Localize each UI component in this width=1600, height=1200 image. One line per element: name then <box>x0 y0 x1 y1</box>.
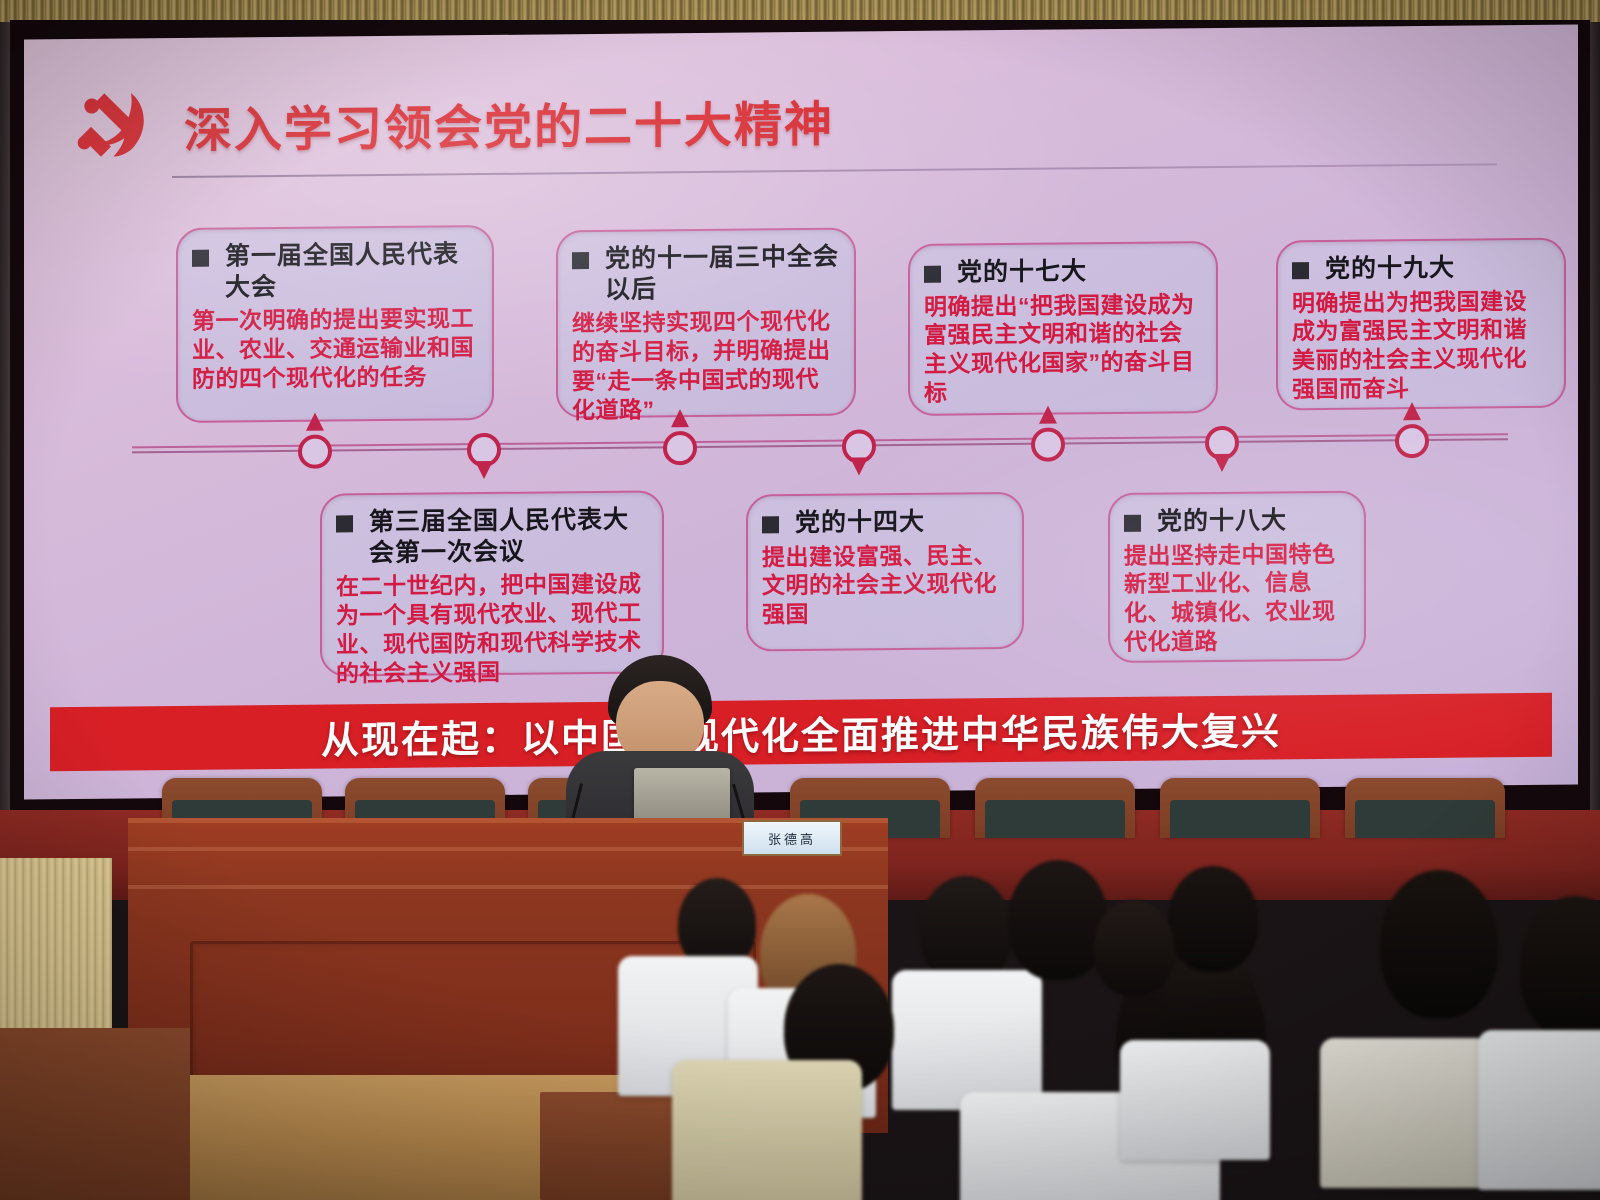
projected-slide: 深入学习领会党的二十大精神 第一届全国人民代表大会 第一次明确的提出要实现工业、… <box>24 25 1578 800</box>
audience-seat <box>672 1060 862 1200</box>
audience-head <box>920 876 1012 984</box>
audience-seat <box>1320 1038 1490 1188</box>
timeline-pointer-down-icon <box>475 461 493 479</box>
card-title: 第一届全国人民代表大会 <box>225 239 478 302</box>
chair <box>1345 778 1505 838</box>
slide-footer-banner: 从现在起：以中国式现代化全面推进中华民族伟大复兴 <box>50 693 1552 771</box>
card-title: 党的十一届三中全会以后 <box>605 242 840 305</box>
slide-header: 深入学习领会党的二十大精神 <box>74 80 834 167</box>
card-title: 党的十九大 <box>1325 253 1455 285</box>
audience-group <box>560 860 1600 1200</box>
name-plate-text: 张德高 <box>768 829 816 848</box>
title-divider <box>172 163 1497 178</box>
card-body: 明确提出“把我国建设成为富强民主文明和谐的社会主义现代化国家”的奋斗目标 <box>924 290 1202 409</box>
square-bullet-icon <box>1124 515 1141 532</box>
card-title: 党的十八大 <box>1157 505 1287 537</box>
card-body: 继续坚持实现四个现代化的奋斗目标，并明确提出要“走一条中国式的现代化道路” <box>572 307 840 425</box>
timeline-card: 第一届全国人民代表大会 第一次明确的提出要实现工业、农业、交通运输业和国防的四个… <box>176 225 494 423</box>
foreground-desk <box>0 1028 190 1200</box>
presenter-laptop <box>634 768 730 824</box>
card-body: 提出坚持走中国特色新型工业化、信息化、城镇化、农业现代化道路 <box>1124 539 1350 657</box>
timeline-pointer-down-icon <box>850 457 868 475</box>
hammer-and-sickle-icon <box>74 86 158 167</box>
timeline-card: 党的十八大 提出坚持走中国特色新型工业化、信息化、城镇化、农业现代化道路 <box>1108 491 1366 663</box>
square-bullet-icon <box>192 250 209 267</box>
timeline-card: 第三届全国人民代表大会第一次会议 在二十世纪内，把中国建设成为一个具有现代农业、… <box>320 490 664 676</box>
page-title: 深入学习领会党的二十大精神 <box>184 85 834 161</box>
audience-head <box>1520 896 1600 1038</box>
timeline-card: 党的十四大 提出建设富强、民主、文明的社会主义现代化强国 <box>746 492 1024 652</box>
ceiling-slat-wall <box>0 0 1600 22</box>
timeline-node <box>298 435 332 469</box>
card-title: 第三届全国人民代表大会第一次会议 <box>369 504 648 568</box>
audience-head <box>1168 866 1258 972</box>
timeline-pointer-up-icon <box>1403 402 1421 420</box>
card-body: 明确提出为把我国建设成为富强民主文明和谐美丽的社会主义现代化强国而奋斗 <box>1292 286 1550 404</box>
timeline-node <box>1395 424 1429 458</box>
audience-seat <box>1478 1030 1600 1190</box>
card-title: 党的十四大 <box>795 507 925 539</box>
timeline-card: 党的十七大 明确提出“把我国建设成为富强民主文明和谐的社会主义现代化国家”的奋斗… <box>908 241 1218 416</box>
square-bullet-icon <box>1292 262 1309 279</box>
timeline-pointer-up-icon <box>671 409 689 427</box>
square-bullet-icon <box>336 515 353 532</box>
timeline-card: 党的十九大 明确提出为把我国建设成为富强民主文明和谐美丽的社会主义现代化强国而奋… <box>1276 238 1566 411</box>
chair <box>1160 778 1320 838</box>
square-bullet-icon <box>572 252 589 269</box>
audience-head <box>1008 860 1108 980</box>
card-body: 提出建设富强、民主、文明的社会主义现代化强国 <box>762 541 1008 630</box>
banner-text: 从现在起：以中国式现代化全面推进中华民族伟大复兴 <box>50 693 1552 771</box>
card-title: 党的十七大 <box>957 256 1087 288</box>
timeline-card: 党的十一届三中全会以后 继续坚持实现四个现代化的奋斗目标，并明确提出要“走一条中… <box>556 227 856 418</box>
name-plate: 张德高 <box>742 820 842 856</box>
card-body: 第一次明确的提出要实现工业、农业、交通运输业和国防的四个现代化的任务 <box>192 304 478 394</box>
timeline-node <box>1031 427 1065 461</box>
square-bullet-icon <box>924 266 941 283</box>
timeline-pointer-up-icon <box>306 413 324 431</box>
audience-head <box>1094 900 1174 996</box>
lecture-hall-photo: 深入学习领会党的二十大精神 第一届全国人民代表大会 第一次明确的提出要实现工业、… <box>0 0 1600 1200</box>
timeline-pointer-down-icon <box>1213 454 1231 472</box>
timeline-axis <box>132 433 1508 451</box>
audience-seat <box>1120 1040 1270 1160</box>
square-bullet-icon <box>762 516 779 533</box>
timeline-pointer-up-icon <box>1039 406 1057 424</box>
audience-seat <box>892 970 1042 1110</box>
timeline-node <box>663 431 697 465</box>
audience-head <box>1380 870 1498 1018</box>
chair <box>975 778 1135 838</box>
